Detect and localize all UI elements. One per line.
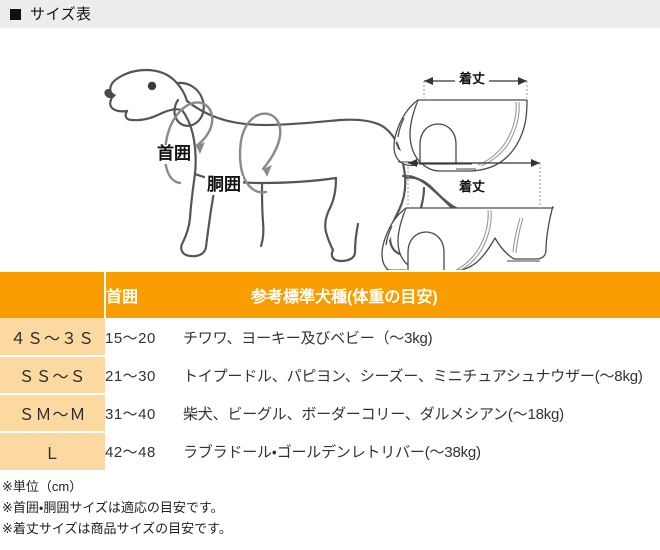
cell-breed-value: チワワ、ヨーキー及びベビー（〜3kg) xyxy=(183,330,432,347)
size-table: 首囲参考標準犬種(体重の目安) ４Ｓ〜３Ｓ15〜20チワワ、ヨーキー及びベビー（… xyxy=(0,272,660,470)
garment-length-label-top: 着丈 xyxy=(455,72,489,86)
table-row: ＳＭ〜Ｍ31〜40柴犬、ビーグル、ボーダーコリー、ダルメシアン(〜18kg) xyxy=(0,394,660,432)
chest-circumference-label: 胴囲 xyxy=(205,176,243,195)
cell-measurements: 21〜30トイプードル、パピヨン、シーズー、ミニチュアシュナウザー(〜8kg) xyxy=(105,356,660,394)
footnote-line: ※首囲・胴囲サイズは適応の目安です。 xyxy=(2,497,642,518)
size-table-head: 首囲参考標準犬種(体重の目安) xyxy=(0,272,660,318)
cell-breed-value: トイプードル、パピヨン、シーズー、ミニチュアシュナウザー(〜8kg) xyxy=(183,368,643,385)
table-row: ＳＳ〜Ｓ21〜30トイプードル、パピヨン、シーズー、ミニチュアシュナウザー(〜8… xyxy=(0,356,660,394)
square-bullet-icon xyxy=(10,9,21,20)
table-header-row: 首囲参考標準犬種(体重の目安) xyxy=(0,272,660,318)
table-row: Ｌ42〜48ラブラドール・ゴールデンレトリバー(〜38kg) xyxy=(0,432,660,470)
column-header-breed: 参考標準犬種(体重の目安) xyxy=(251,289,438,306)
garment-coat-outline xyxy=(394,100,527,171)
cell-size: ＳＳ〜Ｓ xyxy=(0,356,105,394)
page-title: サイズ表 xyxy=(30,7,92,22)
footnote-line: ※単位（cm） xyxy=(2,476,642,497)
cell-measurements: 31〜40柴犬、ビーグル、ボーダーコリー、ダルメシアン(〜18kg) xyxy=(105,394,660,432)
garment-coat-leg-hole xyxy=(420,124,456,164)
cell-breed-value: 柴犬、ビーグル、ボーダーコリー、ダルメシアン(〜18kg) xyxy=(183,406,564,423)
column-header-neck: 首囲 xyxy=(106,283,251,307)
column-header-measurements: 首囲参考標準犬種(体重の目安) xyxy=(105,272,660,318)
footnotes: ※単位（cm）※首囲・胴囲サイズは適応の目安です。※着丈サイズは商品サイズの目安… xyxy=(2,476,642,539)
page-header-bar: サイズ表 xyxy=(0,0,660,28)
cell-size: ４Ｓ〜３Ｓ xyxy=(0,318,105,356)
column-header-size xyxy=(0,272,105,318)
cell-neck-value: 21〜30 xyxy=(105,365,183,386)
illustration-svg xyxy=(0,28,660,270)
garment-length-label-bottom: 着丈 xyxy=(455,180,489,194)
cell-measurements: 15〜20チワワ、ヨーキー及びベビー（〜3kg) xyxy=(105,318,660,356)
cell-neck-value: 15〜20 xyxy=(105,327,183,348)
cell-neck-value: 42〜48 xyxy=(105,441,183,462)
cell-neck-value: 31〜40 xyxy=(105,403,183,424)
cell-breed-value: ラブラドール・ゴールデンレトリバー(〜38kg) xyxy=(183,444,481,461)
neck-measure-loop xyxy=(165,103,212,184)
size-table-body: ４Ｓ〜３Ｓ15〜20チワワ、ヨーキー及びベビー（〜3kg)ＳＳ〜Ｓ21〜30トイ… xyxy=(0,318,660,470)
footnote-line: ※着丈サイズは商品サイズの目安です。 xyxy=(2,518,642,539)
cell-measurements: 42〜48ラブラドール・ゴールデンレトリバー(〜38kg) xyxy=(105,432,660,470)
neck-circumference-label: 首囲 xyxy=(155,145,193,164)
measurement-illustration: 首囲 胴囲 着丈 着丈 xyxy=(0,28,660,270)
cell-size: Ｌ xyxy=(0,432,105,470)
cell-size: ＳＭ〜Ｍ xyxy=(0,394,105,432)
garment-overall-leg-hole xyxy=(408,232,444,270)
table-row: ４Ｓ〜３Ｓ15〜20チワワ、ヨーキー及びベビー（〜3kg) xyxy=(0,318,660,356)
